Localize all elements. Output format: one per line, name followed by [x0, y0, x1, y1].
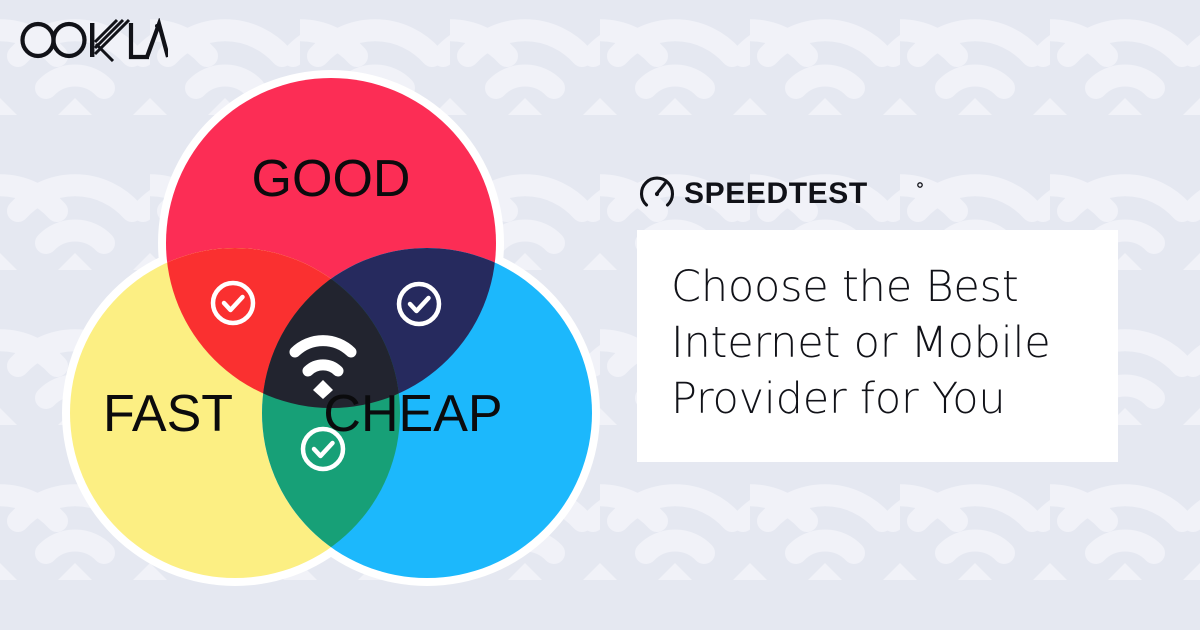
- speedtest-wordmark: SPEEDTEST: [684, 177, 868, 210]
- speedtest-gauge-icon: [642, 178, 673, 205]
- speedtest-trademark-icon: [918, 183, 922, 187]
- venn-label-fast: FAST: [103, 385, 233, 443]
- venn-diagram: GOOD FAST CHEAP: [55, 68, 607, 588]
- right-column: SPEEDTEST Choose the Best Internet or Mo…: [637, 172, 1137, 462]
- page-title: Choose the Best Internet or Mobile Provi…: [671, 260, 1084, 428]
- ookla-trademark-icon: [155, 24, 159, 28]
- ookla-logo: [18, 18, 168, 62]
- speedtest-logo: SPEEDTEST: [637, 172, 927, 212]
- poster-canvas: GOOD FAST CHEAP: [0, 0, 1200, 630]
- headline-card: Choose the Best Internet or Mobile Provi…: [637, 230, 1118, 462]
- venn-label-cheap: CHEAP: [323, 385, 502, 443]
- venn-label-good: GOOD: [252, 150, 411, 208]
